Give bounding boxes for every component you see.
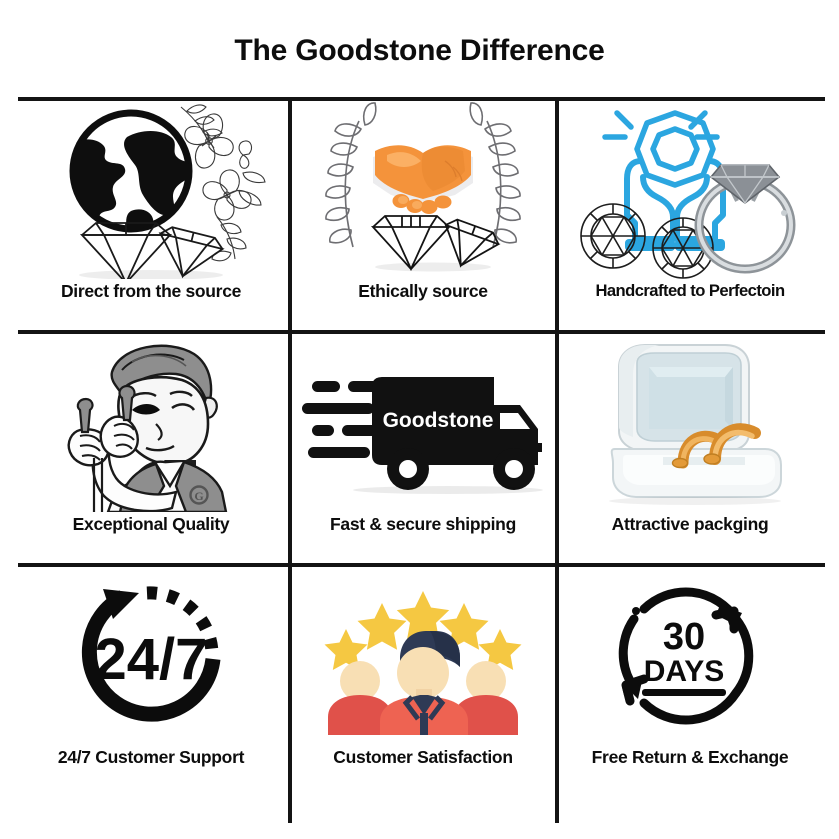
handshake-laurel-diamond-icon: [290, 99, 556, 279]
feature-caption: Attractive packging: [557, 514, 823, 534]
feature-cell-handcrafted[interactable]: Handcrafted to Perfectoin: [557, 99, 823, 332]
feature-cell-ethically-source[interactable]: Ethically source: [290, 99, 556, 332]
feature-grid: Direct from the source: [18, 97, 825, 823]
feature-cell-fast-secure-shipping[interactable]: Goodstone Fast & secure shipping: [290, 332, 556, 565]
hands-gem-ring-icon: [557, 99, 823, 279]
ring-box-icon: [557, 332, 823, 512]
feature-caption: Fast & secure shipping: [290, 514, 556, 534]
feature-cell-exceptional-quality[interactable]: G Exceptional Quality: [18, 332, 284, 565]
return-days-unit: DAYS: [644, 655, 725, 688]
page-title: The Goodstone Difference: [0, 34, 839, 68]
feature-caption: Customer Satisfaction: [290, 747, 556, 767]
delivery-truck-icon: Goodstone: [290, 332, 556, 512]
feature-cell-customer-support[interactable]: 24/7 24/7 Customer Support: [18, 565, 284, 798]
feature-caption: Exceptional Quality: [18, 514, 284, 534]
support-hours-label: 24/7: [95, 627, 208, 692]
feature-cell-attractive-packaging[interactable]: Attractive packging: [557, 332, 823, 565]
30-days-return-icon: 30 DAYS: [557, 565, 823, 745]
feature-caption: Handcrafted to Perfectoin: [557, 281, 823, 301]
goodstone-difference-infographic: The Goodstone Difference: [0, 0, 839, 839]
feature-cell-customer-satisfaction[interactable]: Customer Satisfaction: [290, 565, 556, 798]
feature-caption: Direct from the source: [18, 281, 284, 301]
feature-caption: Ethically source: [290, 281, 556, 301]
vest-monogram: G: [194, 489, 203, 503]
jeweler-loupe-icon: G: [18, 332, 284, 512]
five-star-people-icon: [290, 565, 556, 745]
return-days-number: 30: [663, 616, 705, 658]
feature-caption: Free Return & Exchange: [557, 747, 823, 767]
feature-caption: 24/7 Customer Support: [18, 747, 284, 767]
feature-cell-free-return-exchange[interactable]: 30 DAYS Free Return & Exchange: [557, 565, 823, 798]
clock-24-7-icon: 24/7: [18, 565, 284, 745]
feature-cell-direct-from-source[interactable]: Direct from the source: [18, 99, 284, 332]
globe-flowers-diamond-icon: [18, 99, 284, 279]
truck-brand-label: Goodstone: [383, 409, 494, 432]
